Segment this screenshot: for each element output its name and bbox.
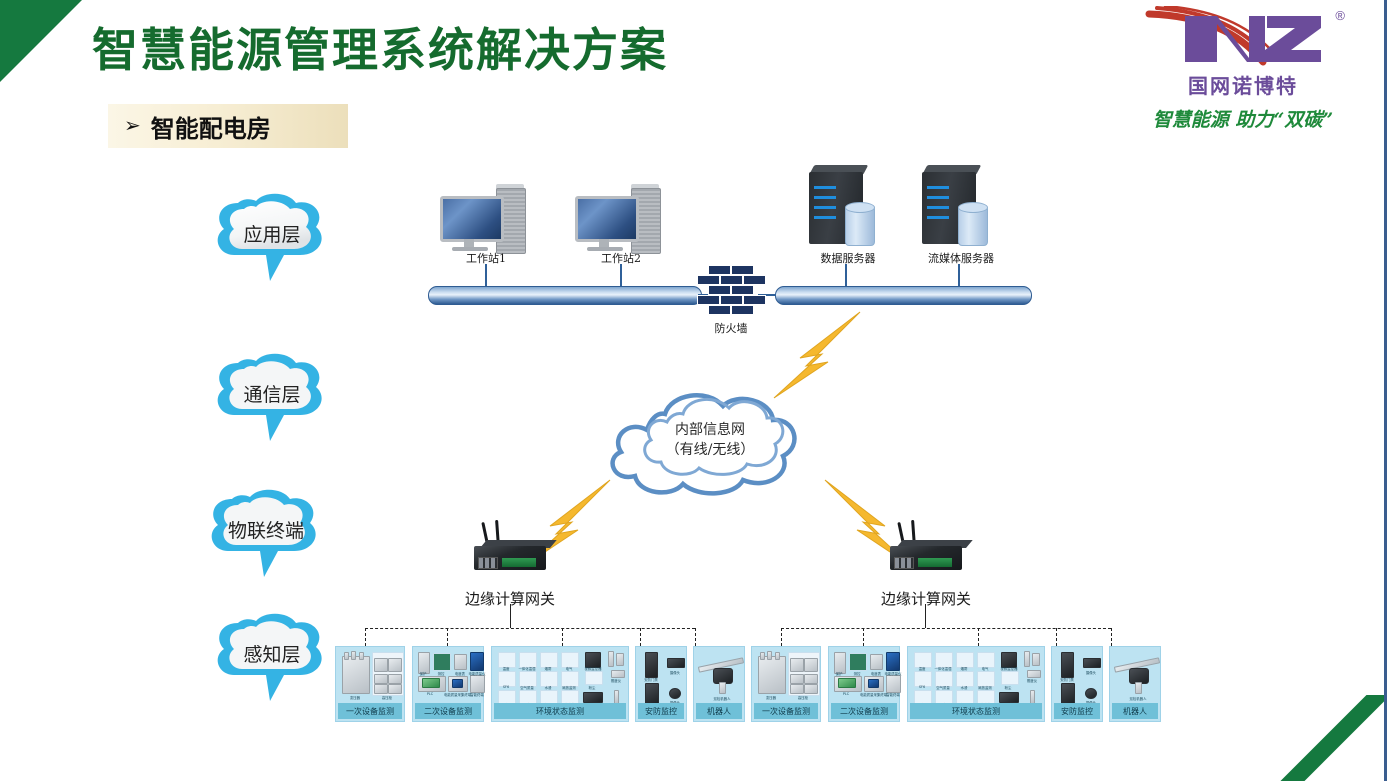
media-server-label: 流媒体服务器 [900,250,1022,266]
panel-primary-equipment-right[interactable]: 变压器 高压柜 一次设备监测 [751,646,821,722]
data-server-label: 数据服务器 [793,250,903,266]
tree-drop-left-5 [695,628,696,646]
panel-security-left[interactable]: 安防门禁 摄像头 环网柜门禁 摄像头 安防监控 [635,646,687,722]
panel-caption: 机器人 [696,703,742,719]
tree-drop-right-4 [1056,628,1057,646]
corner-stripe-decoration [1277,695,1387,781]
panel-security-right[interactable]: 安防门禁 摄像头 环网柜门禁 摄像头 安防监控 [1051,646,1103,722]
panel-caption: 环境状态监测 [494,703,626,719]
tree-drop-right-5 [1111,628,1112,646]
panel-primary-equipment-left[interactable]: 变压器 高压柜 一次设备监测 [335,646,405,722]
tree-bar-left [365,628,695,629]
tree-drop-left-2 [447,628,448,646]
sidebar-item-application-layer[interactable]: 应用层 [212,196,332,284]
brand-name: 国网诺博特 [1125,70,1361,99]
edge-gateway-right-label: 边缘计算网关 [856,588,996,609]
panel-robot-right[interactable]: 巡检机器人 机器人 [1109,646,1161,722]
sidebar-item-label: 物联终端 [206,492,326,566]
panel-environment-left[interactable]: 温度 一体化温湿 烟雾 电气 视频监控器 SF6 空气质量 水浸 局放监测 粉尘… [491,646,629,722]
sidebar-item-communication-layer[interactable]: 通信层 [212,356,332,444]
panel-caption: 一次设备监测 [338,703,402,719]
company-logo: ® 国网诺博特 智慧能源 助力“双碳” [1125,4,1361,136]
tree-stem-left [510,604,511,628]
slide-canvas: 智慧能源管理系统解决方案 ➢ 智能配电房 ® 国网诺博特 智慧能源 助力“双碳” [0,0,1387,781]
registered-trademark-icon: ® [1335,8,1345,23]
data-server-icon [805,172,887,252]
edge-gateway-left-icon [462,530,552,582]
tree-drop-right-2 [863,628,864,646]
nz-logo-mark [1143,6,1343,72]
panel-caption: 机器人 [1112,703,1158,719]
panel-secondary-equipment-left[interactable]: 保护 测控 电度表 电能质量仪 PLC 电能质量采集终端 智能终端 二次设备监测 [412,646,484,722]
panel-robot-left[interactable]: 巡检机器人 机器人 [693,646,745,722]
cloud-label: 内部信息网 （有线/无线） [595,420,825,460]
panel-caption: 二次设备监测 [831,703,897,719]
tree-drop-left-1 [365,628,366,646]
panel-caption: 一次设备监测 [754,703,818,719]
panel-caption: 安防监控 [638,703,684,719]
network-bus-left [428,286,702,305]
sidebar-item-iot-terminal-layer[interactable]: 物联终端 [206,492,326,580]
panel-caption: 环境状态监测 [910,703,1042,719]
sidebar-item-label: 感知层 [212,616,332,690]
tree-drop-right-1 [781,628,782,646]
tree-stem-right [925,604,926,628]
brand-slogan: 智慧能源 助力“双碳” [1125,105,1361,132]
arrow-bullet-icon: ➢ [124,116,141,136]
panel-caption: 安防监控 [1054,703,1100,719]
subtitle-label: 智能配电房 [151,109,271,144]
sidebar-item-label: 应用层 [212,196,332,270]
sidebar-item-label: 通信层 [212,356,332,430]
panel-secondary-equipment-right[interactable]: 保护 测控 电度表 电能质量仪 PLC 电能质量采集终端 智能终端 二次设备监测 [828,646,900,722]
panel-caption: 二次设备监测 [415,703,481,719]
subtitle-banner: ➢ 智能配电房 [108,104,348,148]
network-bus-right [775,286,1032,305]
tree-drop-left-3 [562,628,563,646]
panel-environment-right[interactable]: 温度 一体化温湿 烟雾 电气 视频监控器 SF6 空气质量 水浸 局放监测 粉尘… [907,646,1045,722]
edge-gateway-right-icon [878,530,968,582]
tree-drop-left-4 [640,628,641,646]
page-title: 智慧能源管理系统解决方案 [92,14,668,80]
media-server-icon [918,172,1000,252]
tree-drop-right-3 [978,628,979,646]
internal-network-cloud: 内部信息网 （有线/无线） [595,378,825,503]
sidebar-item-perception-layer[interactable]: 感知层 [212,616,332,704]
tree-bar-right [781,628,1111,629]
corner-triangle-decoration [0,0,82,82]
